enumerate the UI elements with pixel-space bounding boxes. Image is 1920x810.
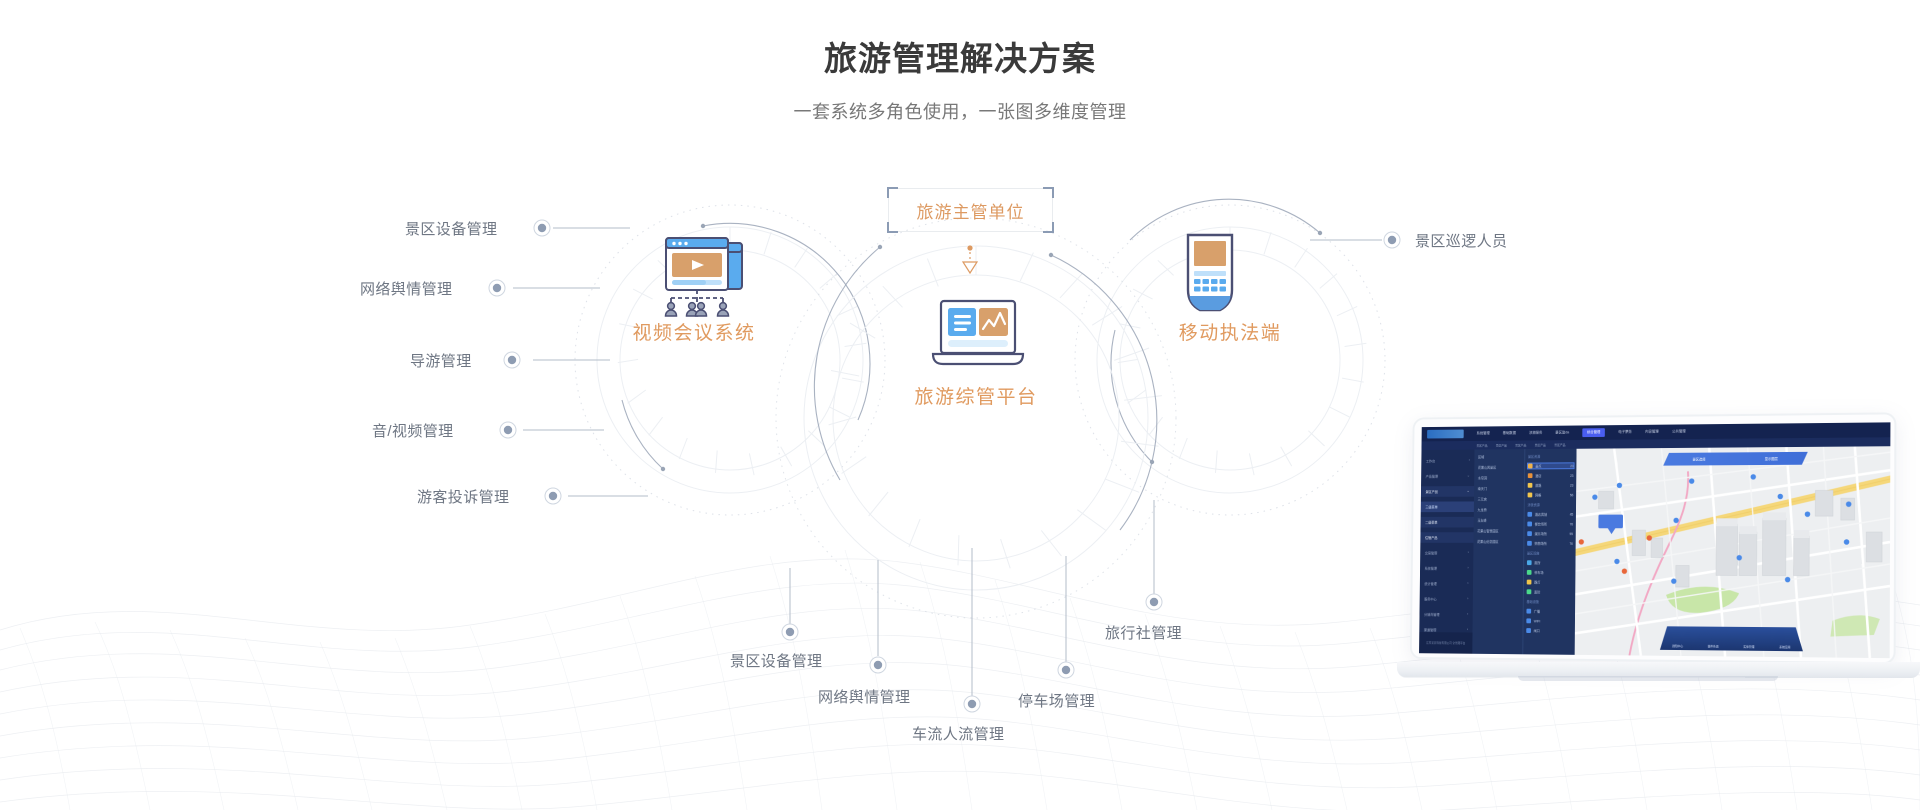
legend-item-0-0[interactable]: 景点23 <box>1528 463 1574 468</box>
page-header: 旅游管理解决方案 一套系统多角色使用，一张图多维度管理 <box>0 38 1920 124</box>
dashboard-tree-item-5[interactable]: 玉女峰 <box>1477 518 1520 523</box>
node-label-left-0[interactable]: 景区设备管理 <box>405 218 497 239</box>
legend-group-title-3: 基础设施 <box>1527 599 1573 604</box>
node-label-left-3[interactable]: 音/视频管理 <box>372 420 454 441</box>
corner-bracket-bottom-left <box>887 222 898 233</box>
corner-bracket-bottom-right <box>1043 222 1054 233</box>
corner-bracket-top-right <box>1043 187 1054 198</box>
map-canvas <box>1575 446 1891 658</box>
dashboard-tree-item-1[interactable]: 水帘洞 <box>1478 475 1521 480</box>
node-label-right-0[interactable]: 景区巡逻人员 <box>1415 230 1507 251</box>
map-dock-btn-3[interactable]: 系统应用 <box>1779 645 1790 649</box>
legend-item-2-2[interactable]: 路灯 <box>1527 580 1573 585</box>
legend-item-2-3[interactable]: 监控 <box>1527 589 1573 594</box>
dashboard-sidebar-item-7[interactable]: 系统管理› <box>1420 563 1473 574</box>
page-subtitle: 一套系统多角色使用，一张图多维度管理 <box>0 98 1920 124</box>
dashboard-sidebar-item-2[interactable]: 景区产品⌄ <box>1421 486 1474 497</box>
laptop-dashboard-icon <box>928 298 1028 374</box>
right-leader-dots <box>1384 232 1400 248</box>
left-leader-dots <box>489 220 561 504</box>
dashboard-chip-0[interactable]: 景区产品 <box>1476 443 1487 447</box>
dashboard-map[interactable]: 景区选择 显示图层 通知中心 事件处置 实体管理 系统应用 <box>1575 446 1891 658</box>
mobile-enforcement-device-icon <box>1176 232 1244 318</box>
legend-item-1-2[interactable]: 娱乐场所95 <box>1527 531 1573 536</box>
dashboard-tab-4[interactable]: 综合管理 <box>1582 428 1605 437</box>
dashboard-sidebar-item-6[interactable]: 交易管理› <box>1420 548 1473 559</box>
map-dock-btn-1[interactable]: 事件处置 <box>1708 644 1719 648</box>
map-dock-btn-0[interactable]: 通知中心 <box>1672 644 1683 648</box>
dashboard-sidebar-item-5[interactable]: 住宿产品 <box>1420 532 1473 543</box>
dashboard-tab-1[interactable]: 基础数据 <box>1503 431 1516 436</box>
dashboard-tab-2[interactable]: 涉旅服务 <box>1529 431 1542 436</box>
dashboard-region-tree: 区域 花果山风景区 水帘洞 南天门 三元宫 九龙桥 玉女峰 花果山智慧园区 花果… <box>1472 449 1524 654</box>
dashboard-chip-1[interactable]: 景区产品 <box>1496 443 1507 447</box>
page-title: 旅游管理解决方案 <box>0 38 1920 81</box>
corner-bracket-top-left <box>887 187 898 198</box>
dashboard-logo-icon <box>1427 430 1464 439</box>
legend-group-title-0: 景区资源 <box>1528 454 1574 459</box>
node-label-bottom-1[interactable]: 网络舆情管理 <box>818 686 910 707</box>
dashboard-sidebar-item-0[interactable]: 工作台› <box>1421 455 1474 466</box>
laptop-lid: 系统管理 基础数据 涉旅服务 景区监da 综合管理 电子票务 内容管理 公共管理… <box>1410 412 1897 664</box>
cluster-caption-mobile: 移动执法端 <box>1140 318 1320 345</box>
legend-item-2-1[interactable]: 停车场 <box>1527 570 1573 575</box>
dashboard-tree-item-2[interactable]: 南天门 <box>1478 486 1521 491</box>
dashboard-tab-3[interactable]: 景区监da <box>1555 430 1569 435</box>
left-leader-lines <box>513 228 648 496</box>
dashboard-chip-2[interactable]: 景区产品 <box>1515 443 1526 447</box>
bottom-leader-lines <box>790 500 1154 696</box>
ring-platform <box>776 218 1176 618</box>
dashboard-tab-7[interactable]: 公共管理 <box>1672 429 1686 434</box>
legend-item-1-0[interactable]: 酒店宾馆45 <box>1527 512 1573 517</box>
node-label-left-2[interactable]: 导游管理 <box>410 350 472 371</box>
dashboard-sidebar-item-10[interactable]: 分销商管理› <box>1419 609 1472 620</box>
dashboard-chip-4[interactable]: 景区产品 <box>1554 443 1565 447</box>
dashboard-tree-item-6[interactable]: 花果山智慧园区 <box>1477 528 1520 533</box>
dashboard-tree-root[interactable]: 区域 <box>1478 454 1521 459</box>
legend-group-title-2: 景区设施 <box>1527 551 1573 556</box>
node-label-bottom-3[interactable]: 停车场管理 <box>1018 690 1095 711</box>
dashboard-tree-item-4[interactable]: 九龙桥 <box>1478 507 1521 512</box>
dashboard-sidebar-item-8[interactable]: 统计管理› <box>1420 578 1473 589</box>
dashboard-tab-6[interactable]: 内容管理 <box>1645 430 1659 435</box>
dashboard-left-panel: 区域 花果山风景区 水帘洞 南天门 三元宫 九龙桥 玉女峰 花果山智慧园区 花果… <box>1472 449 1576 655</box>
dashboard-sidebar-item-9[interactable]: 服务中心› <box>1420 594 1473 605</box>
cluster-caption-platform: 旅游综管平台 <box>876 382 1076 409</box>
cluster-caption-video: 视频会议系统 <box>604 318 784 345</box>
dashboard-legend-list: 景区资源 景点23 酒店23 道路23 网格56 涉旅资源 酒店宾馆45 餐饮场… <box>1522 449 1576 655</box>
dashboard-tree-item-7[interactable]: 花果山纪念园区 <box>1477 539 1520 544</box>
map-toolbar: 景区选择 显示图层 <box>1663 452 1808 466</box>
dashboard-sidebar-item-1[interactable]: 产品管理⌄ <box>1421 471 1474 482</box>
node-label-left-4[interactable]: 游客投诉管理 <box>417 486 509 507</box>
video-conference-icon <box>650 236 758 322</box>
dashboard-tab-5[interactable]: 电子票务 <box>1618 430 1632 435</box>
supervisor-arrow-connector <box>963 245 977 273</box>
map-dockbar: 通知中心 事件处置 实体管理 系统应用 <box>1660 626 1803 651</box>
dashboard-sidebar-item-4[interactable]: 二级菜单 <box>1421 517 1474 528</box>
node-label-bottom-2[interactable]: 车流人流管理 <box>912 723 1004 744</box>
map-toolbar-btn-1[interactable]: 显示图层 <box>1765 456 1778 461</box>
supervisor-unit-box[interactable]: 旅游主管单位 <box>888 188 1053 232</box>
dashboard-chip-3[interactable]: 景区产品 <box>1535 443 1546 447</box>
dashboard-footer-text: 江苏某某科技有限公司 全景图平台 <box>1419 632 1472 654</box>
dashboard-tree-item-3[interactable]: 三元宫 <box>1478 496 1521 501</box>
laptop-foot <box>1518 676 1778 681</box>
map-toolbar-btn-0[interactable]: 景区选择 <box>1693 457 1706 462</box>
legend-item-0-1[interactable]: 酒店23 <box>1528 473 1574 478</box>
node-label-bottom-0[interactable]: 景区设备管理 <box>730 650 822 671</box>
legend-item-3-2[interactable]: 闸口 <box>1526 628 1572 633</box>
dashboard-tree-item-0[interactable]: 花果山风景区 <box>1478 465 1521 470</box>
solution-infographic-page: 旅游管理解决方案 一套系统多角色使用，一张图多维度管理 <box>0 0 1920 810</box>
dashboard-sidebar: 工作台› 产品管理⌄ 景区产品⌄ 三级菜单 二级菜单 住宿产品 交易管理› 系统… <box>1419 450 1474 654</box>
legend-item-3-0[interactable]: 广播 <box>1526 609 1572 614</box>
node-label-left-1[interactable]: 网络舆情管理 <box>360 278 452 299</box>
legend-item-1-3[interactable]: 购物场所76 <box>1527 541 1573 546</box>
legend-item-1-1[interactable]: 餐饮场所76 <box>1527 521 1573 526</box>
supervisor-unit-label: 旅游主管单位 <box>917 198 1025 223</box>
laptop-mockup: 系统管理 基础数据 涉旅服务 景区监da 综合管理 电子票务 内容管理 公共管理… <box>1368 412 1920 702</box>
legend-group-title-1: 涉旅资源 <box>1528 502 1574 507</box>
dashboard-tab-0[interactable]: 系统管理 <box>1477 431 1490 436</box>
dashboard-sidebar-item-3[interactable]: 三级菜单 <box>1421 501 1474 512</box>
legend-item-3-1[interactable]: WIFI <box>1526 618 1572 623</box>
legend-item-2-0[interactable]: 厕所 <box>1527 560 1573 565</box>
laptop-screen: 系统管理 基础数据 涉旅服务 景区监da 综合管理 电子票务 内容管理 公共管理… <box>1419 422 1890 658</box>
legend-item-0-3[interactable]: 网格56 <box>1528 492 1574 497</box>
legend-item-0-2[interactable]: 道路23 <box>1528 483 1574 488</box>
node-label-bottom-4[interactable]: 旅行社管理 <box>1105 622 1182 643</box>
map-dock-btn-2[interactable]: 实体管理 <box>1743 645 1754 649</box>
